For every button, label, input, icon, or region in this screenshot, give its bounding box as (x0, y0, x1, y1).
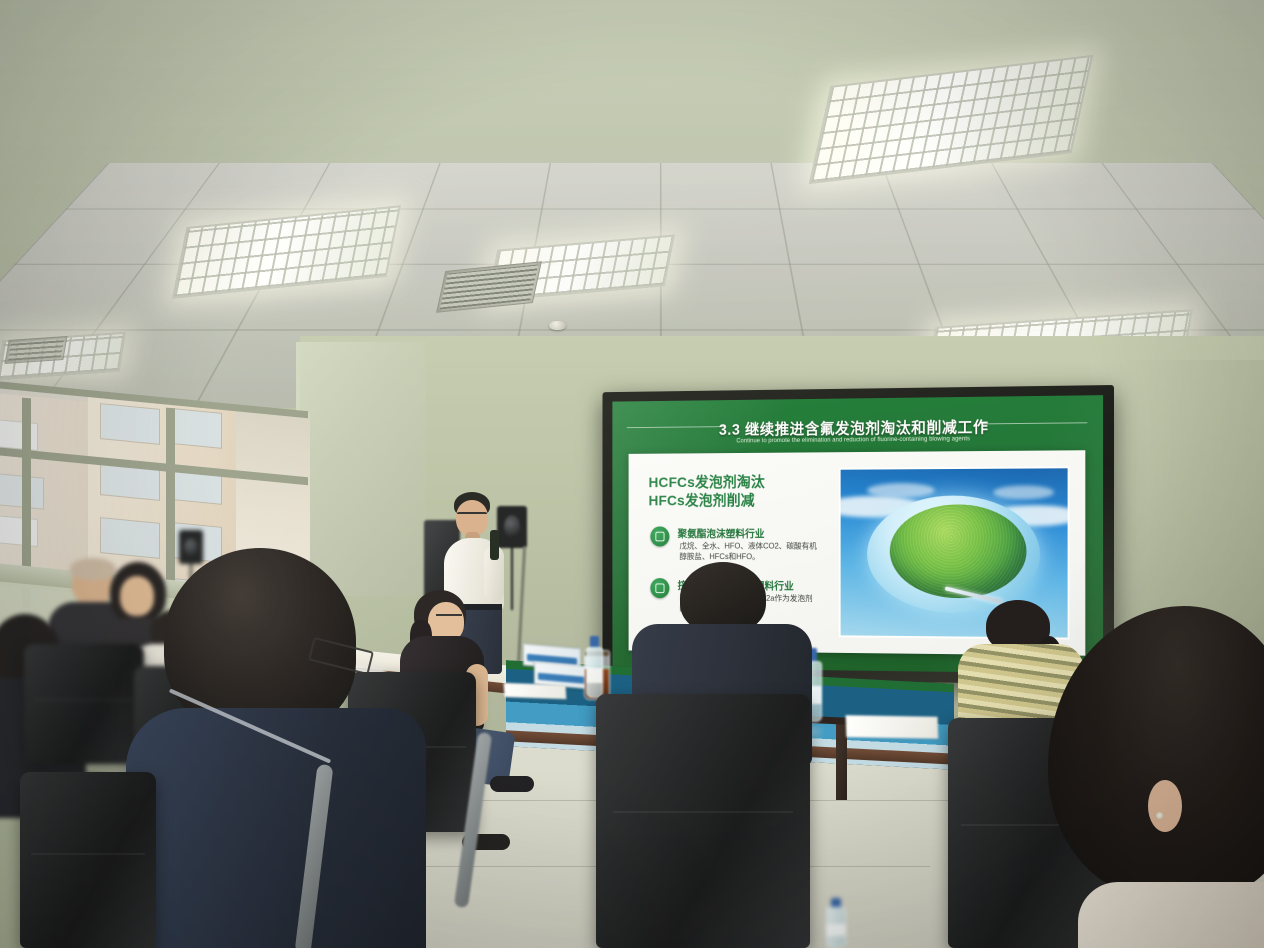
attendee-shoe (490, 776, 534, 792)
paper-document (504, 683, 567, 699)
attendee-polo-shirt (126, 708, 426, 948)
attendee-hair (1048, 606, 1264, 898)
presenter-eyeglasses (457, 512, 487, 519)
air-vent-2 (4, 336, 67, 364)
earring (1156, 812, 1163, 819)
attendee-blouse (1078, 882, 1264, 948)
meeting-room-photo: 3.3 继续推进含氟发泡剂淘汰和削减工作 Continue to promote… (0, 0, 1264, 948)
bullet-1-text: 戊烷、全水、HFO、液体CO2、碳酸有机醇胺盐、HFCs和HFO。 (679, 542, 818, 563)
handheld-microphone (490, 530, 499, 560)
recycle-leaf-icon (650, 526, 669, 546)
paper-document (846, 715, 939, 739)
attendee-front-left-navy-polo (150, 548, 450, 948)
attendee-ear (1148, 780, 1182, 832)
smoke-detector (549, 321, 566, 330)
chair[interactable] (596, 694, 810, 948)
chair[interactable] (24, 644, 144, 764)
chair[interactable] (20, 772, 156, 948)
water-bottle (586, 636, 603, 698)
attendee-front-right-cream-blouse (1026, 606, 1264, 948)
slide-heading-line-2: HFCs发泡剂削减 (649, 490, 755, 511)
water-bottle (826, 898, 846, 948)
bullet-1-heading: 聚氨酯泡沫塑料行业 (678, 526, 765, 541)
